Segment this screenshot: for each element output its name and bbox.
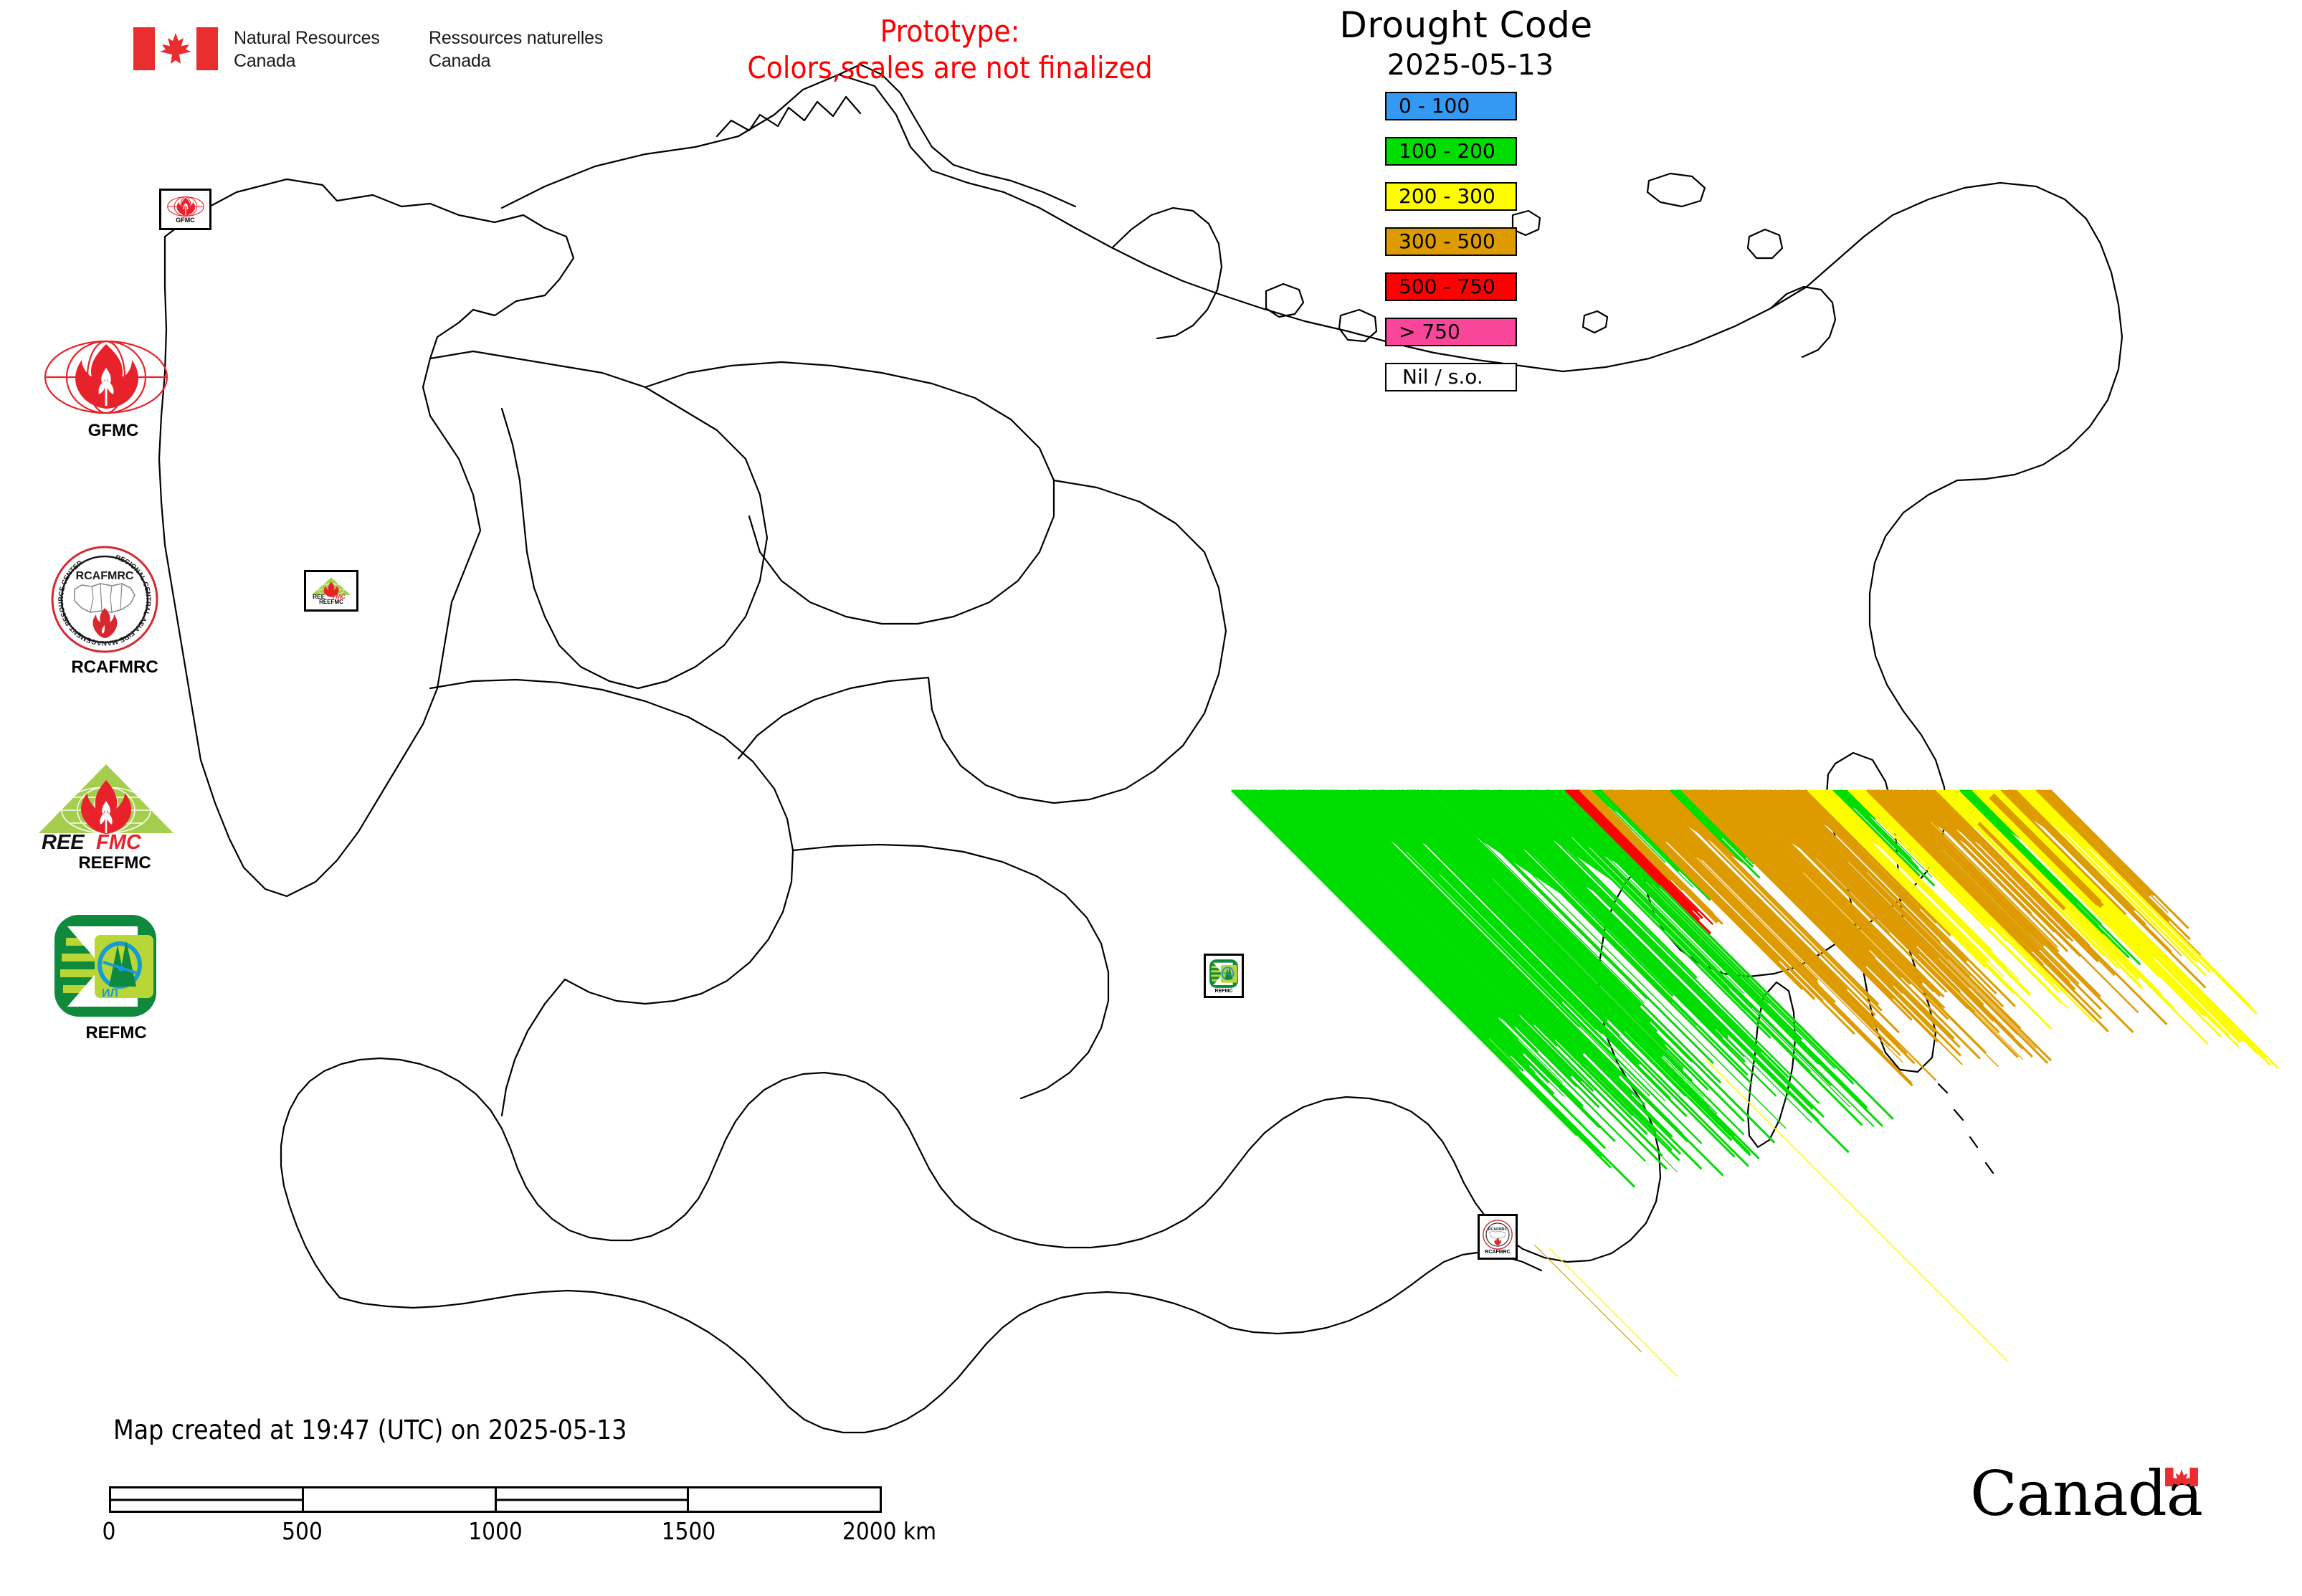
partner-rcafmrc-label: RCAFMRC — [50, 657, 179, 678]
reefmc-logo-icon: REE FMC — [36, 761, 176, 855]
gfmc-logo-icon — [42, 337, 171, 417]
map-page: Natural Resources Canada Ressources natu… — [0, 0, 2302, 1596]
scalebar-segment — [689, 1488, 880, 1511]
nrcan-name-en: Natural Resources Canada — [234, 27, 413, 72]
legend-item-1: 100 - 200 — [1385, 137, 1517, 166]
partner-gfmc: GFMC — [42, 337, 185, 441]
map-marker-gfmc[interactable]: GFMC — [159, 189, 211, 230]
legend-item-label: Nil / s.o. — [1387, 367, 1483, 387]
legend-item-6: Nil / s.o. — [1385, 363, 1517, 391]
legend-item-label: 0 - 100 — [1387, 96, 1470, 116]
legend-item-label: 200 - 300 — [1387, 186, 1495, 206]
legend-item-label: 300 - 500 — [1387, 232, 1495, 252]
nrcan-signature: Natural Resources Canada Ressources natu… — [133, 27, 608, 72]
rcafmrc-logo-icon: REGIONAL CENTRAL ASIA FIRE MANAGEMENT RE… — [50, 545, 159, 654]
refmc-marker-icon — [1209, 959, 1239, 989]
prototype-notice-line1: Prototype: — [645, 13, 1255, 49]
map-marker-reefmc-label: REEFMC — [319, 599, 343, 605]
legend-item-5: > 750 — [1385, 318, 1517, 346]
scalebar-tick-4: 2000 km — [842, 1517, 936, 1545]
scalebar: 0500100015002000 km — [109, 1486, 882, 1549]
svg-text:FMC: FMC — [96, 831, 142, 854]
legend-title: Drought Code — [1326, 4, 1606, 46]
scalebar-segment — [497, 1488, 690, 1511]
map-created-text: Map created at 19:47 (UTC) on 2025-05-13 — [113, 1415, 627, 1445]
legend-item-label: > 750 — [1387, 322, 1460, 342]
prototype-notice-line2: Colors,scales are not finalized — [645, 49, 1255, 86]
map-marker-rcafmrc[interactable]: RCAFMRC RCAFMRC — [1478, 1214, 1518, 1260]
scalebar-tick-3: 1500 — [662, 1517, 716, 1545]
canada-flag-icon — [2165, 1468, 2198, 1486]
partner-gfmc-label: GFMC — [42, 421, 185, 441]
legend-item-label: 100 - 200 — [1387, 141, 1495, 161]
legend-item-label: 500 - 750 — [1387, 277, 1495, 297]
partner-reefmc: REE FMC REEFMC — [36, 761, 194, 873]
scalebar-tick-1: 500 — [282, 1517, 323, 1545]
drought-code-overlay — [1232, 790, 2278, 1377]
partner-refmc: ИЛ REFMC — [52, 912, 181, 1043]
legend-items: 0 - 100100 - 200200 - 300300 - 500500 - … — [1385, 92, 1649, 391]
scalebar-tick-2: 1000 — [468, 1517, 523, 1545]
scalebar-labels: 0500100015002000 km — [109, 1517, 882, 1549]
legend-item-0: 0 - 100 — [1385, 92, 1517, 120]
partner-refmc-label: REFMC — [52, 1023, 181, 1043]
map-marker-gfmc-label: GFMC — [176, 217, 195, 224]
legend: Drought Code 2025-05-13 0 - 100100 - 200… — [1319, 4, 1649, 408]
map-marker-refmc[interactable]: REFMC — [1204, 954, 1244, 998]
scalebar-segment — [304, 1488, 497, 1511]
scalebar-segment — [111, 1488, 304, 1511]
prototype-notice: Prototype: Colors,scales are not finaliz… — [645, 13, 1255, 86]
reefmc-marker-icon: REE FMC — [310, 576, 353, 599]
canada-flag-icon — [133, 27, 218, 70]
scalebar-track — [109, 1486, 882, 1513]
legend-item-2: 200 - 300 — [1385, 182, 1517, 211]
gfmc-marker-icon — [166, 196, 206, 217]
map-marker-rcafmrc-label: RCAFMRC — [1485, 1250, 1510, 1255]
svg-text:ИЛ: ИЛ — [102, 987, 118, 999]
rcafmrc-marker-icon: RCAFMRC — [1483, 1220, 1513, 1250]
legend-item-4: 500 - 750 — [1385, 272, 1517, 301]
partner-rcafmrc: REGIONAL CENTRAL ASIA FIRE MANAGEMENT RE… — [50, 545, 179, 678]
svg-text:REE: REE — [42, 831, 85, 854]
basemap-outlines — [159, 65, 2122, 1433]
map-marker-refmc-label: REFMC — [1215, 989, 1233, 994]
canada-wordmark: Canada — [1970, 1463, 2202, 1529]
legend-date: 2025-05-13 — [1331, 49, 1610, 82]
legend-item-3: 300 - 500 — [1385, 227, 1517, 256]
svg-text:RCAFMRC: RCAFMRC — [1488, 1227, 1508, 1231]
nrcan-name-fr: Ressources naturelles Canada — [429, 27, 608, 72]
map-canvas — [0, 0, 2302, 1596]
svg-text:RCAFMRC: RCAFMRC — [76, 570, 134, 582]
scalebar-tick-0: 0 — [103, 1517, 116, 1545]
partner-reefmc-label: REEFMC — [36, 853, 194, 873]
map-marker-reefmc[interactable]: REE FMC REEFMC — [304, 570, 358, 612]
refmc-logo-icon: ИЛ — [52, 912, 159, 1020]
